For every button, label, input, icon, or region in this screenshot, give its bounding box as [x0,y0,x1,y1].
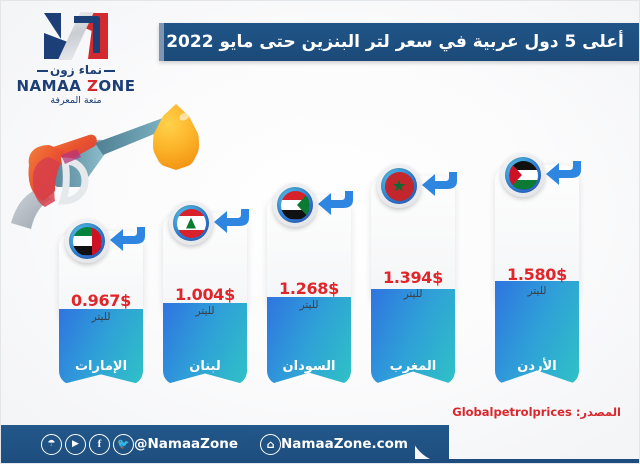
title-banner: أعلى 5 دول عربية في سعر لتر البنزين حتى … [159,23,640,61]
bar-label: المغرب [371,359,455,374]
website-link[interactable]: NamaaZone.com [281,436,408,452]
curved-arrow-left-icon [421,168,461,198]
bar-value: 1.004$ [163,285,247,304]
bar-value: 0.967$ [59,291,143,310]
logo-arabic-wordmark: نماء زون [37,64,115,76]
bar-value: 1.268$ [267,279,351,298]
curved-arrow-left-icon [213,205,253,235]
infographic-canvas: نماء زون NAMAA ZONE متعة المعرفة أعلى 5 … [0,0,640,464]
social-handle[interactable]: @NamaaZone [134,436,238,452]
bar-unit: لليتر [371,288,455,300]
bar-unit: لليتر [267,299,351,311]
home-icon: ⌂ [260,434,281,455]
youtube-icon[interactable]: ▶ [65,434,86,455]
bar-label: السودان [267,359,351,374]
bar-unit: لليتر [163,305,247,317]
bar-item: 1.394$ لليتر المغرب [371,164,455,385]
snapchat-icon[interactable]: ☂ [41,434,62,455]
bar-item: 1.268$ لليتر السودان [267,183,351,385]
bar-item: 0.967$ لليتر الإمارات [59,219,143,385]
source-credit: المصدر: Globalpetrolprices [452,405,621,419]
flag-uae-icon [65,219,109,263]
flag-jordan-icon [501,153,545,197]
flag-lebanon-icon [169,201,213,245]
bar-item: 1.580$ لليتر الأردن [495,153,579,385]
curved-arrow-left-icon [109,223,149,253]
bar-value: 1.394$ [371,268,455,287]
bar-unit: لليتر [59,311,143,323]
flag-morocco-icon [377,164,421,208]
twitter-icon[interactable]: 🐦 [113,434,134,455]
bar-unit: لليتر [495,285,579,297]
bar-item: 1.004$ لليتر لبنان [163,201,247,385]
facebook-icon[interactable]: f [89,434,110,455]
bar-value: 1.580$ [495,265,579,284]
page-title: أعلى 5 دول عربية في سعر لتر البنزين حتى … [166,32,634,52]
curved-arrow-left-icon [317,187,357,217]
footer-bar: ⌂ NamaaZone.com ☂ ▶ f 🐦 @NamaaZone [1,425,415,463]
namaa-zone-monogram-icon [44,13,108,59]
bar-label: الأردن [495,359,579,374]
bar-label: لبنان [163,359,247,374]
flag-sudan-icon [273,183,317,227]
title-accent-bar [159,23,164,61]
bar-label: الإمارات [59,359,143,374]
curved-arrow-left-icon [545,157,585,187]
brand-logo: نماء زون NAMAA ZONE متعة المعرفة [15,13,137,99]
